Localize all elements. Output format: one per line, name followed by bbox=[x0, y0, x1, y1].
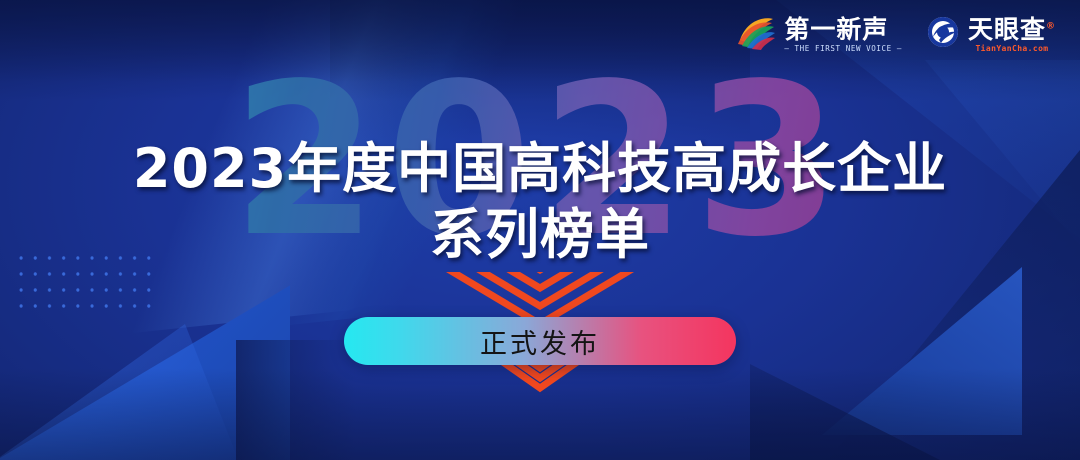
logo-diyixinsheng[interactable]: 第一新声 — THE FIRST NEW VOICE — bbox=[736, 14, 902, 55]
logo-diyixinsheng-text: 第一新声 — THE FIRST NEW VOICE — bbox=[784, 17, 902, 53]
title-line-2: 系列榜单 bbox=[0, 202, 1080, 268]
release-status-label: 正式发布 bbox=[480, 322, 600, 361]
banner-title: 2023年度中国高科技高成长企业 系列榜单 bbox=[0, 136, 1080, 268]
swoosh-logo-icon bbox=[736, 14, 776, 55]
logo-tianyancha-en: TianYanCha.com bbox=[968, 45, 1056, 53]
trademark-icon: ® bbox=[1046, 21, 1056, 31]
title-line-1: 2023年度中国高科技高成长企业 bbox=[0, 136, 1080, 202]
release-status-pill[interactable]: 正式发布 bbox=[344, 317, 736, 365]
logo-tianyancha[interactable]: 天眼查® TianYanCha.com bbox=[926, 15, 1056, 54]
logo-tianyancha-text: 天眼查® TianYanCha.com bbox=[968, 17, 1056, 53]
logo-tianyancha-cn-chars: 天眼查 bbox=[968, 15, 1046, 44]
logo-diyixinsheng-cn: 第一新声 bbox=[784, 17, 902, 42]
logo-diyixinsheng-en: — THE FIRST NEW VOICE — bbox=[784, 45, 902, 53]
logo-bar: 第一新声 — THE FIRST NEW VOICE — 天眼查® TianYa… bbox=[736, 14, 1056, 55]
tianyancha-eye-icon bbox=[926, 15, 960, 54]
logo-tianyancha-cn: 天眼查® bbox=[968, 17, 1056, 42]
promo-banner: 2023 2023年度中国高科技高成长企业 系列榜单 正式发布 bbox=[0, 0, 1080, 460]
